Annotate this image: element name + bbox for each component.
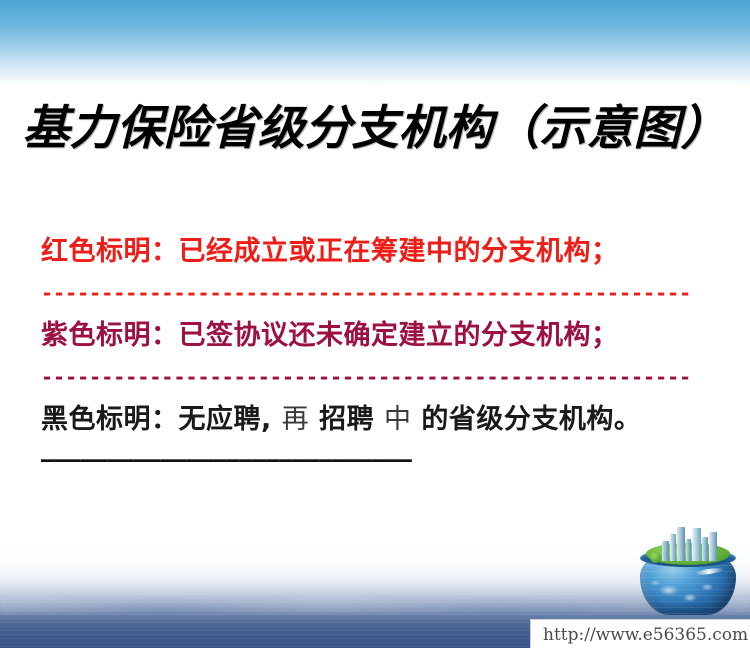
legend-item-black: 黑色标明：无应聘, 再 招聘 中 的省级分支机构。 [41, 400, 709, 440]
watermark-url: http://www.e56365.com [543, 624, 748, 646]
city-skyline [662, 525, 718, 561]
building [670, 534, 676, 561]
spacer [41, 272, 709, 280]
building [692, 528, 701, 561]
legend-black-run-3: 招聘 [319, 404, 374, 435]
legend-block: 红色标明：已经成立或正在筹建中的分支机构； ------------------… [41, 232, 709, 474]
legend-black-run-1: 黑色标明：无应聘, [41, 404, 272, 435]
legend-divider-black: ———————————————————————————— [41, 448, 709, 474]
legend-black-run-2: 再 [282, 404, 310, 435]
sky-gradient-band [0, 0, 750, 86]
legend-black-run-5: 的省级分支机构。 [421, 404, 641, 435]
building [677, 527, 685, 561]
slide-canvas: 基力保险省级分支机构（示意图） 红色标明：已经成立或正在筹建中的分支机构； --… [0, 0, 750, 648]
spacer [41, 440, 709, 448]
globe-city-logo-icon [636, 523, 740, 619]
building [686, 539, 691, 561]
tree-icon [650, 552, 661, 563]
legend-black-run-4: 中 [384, 404, 412, 435]
spacer [41, 390, 709, 400]
watermark-url-plate: http://www.e56365.com [530, 619, 750, 648]
page-title: 基力保险省级分支机构（示意图） [0, 100, 750, 158]
legend-item-purple: 紫色标明：已签协议还未确定建立的分支机构； [41, 316, 709, 356]
building [709, 532, 717, 561]
legend-divider-purple: ----------------------------------------… [41, 364, 709, 390]
building [662, 541, 669, 561]
spacer [41, 306, 709, 316]
spacer [41, 356, 709, 364]
legend-divider-red: ----------------------------------------… [41, 280, 709, 306]
building [702, 537, 708, 561]
legend-item-red: 红色标明：已经成立或正在筹建中的分支机构； [41, 232, 709, 272]
